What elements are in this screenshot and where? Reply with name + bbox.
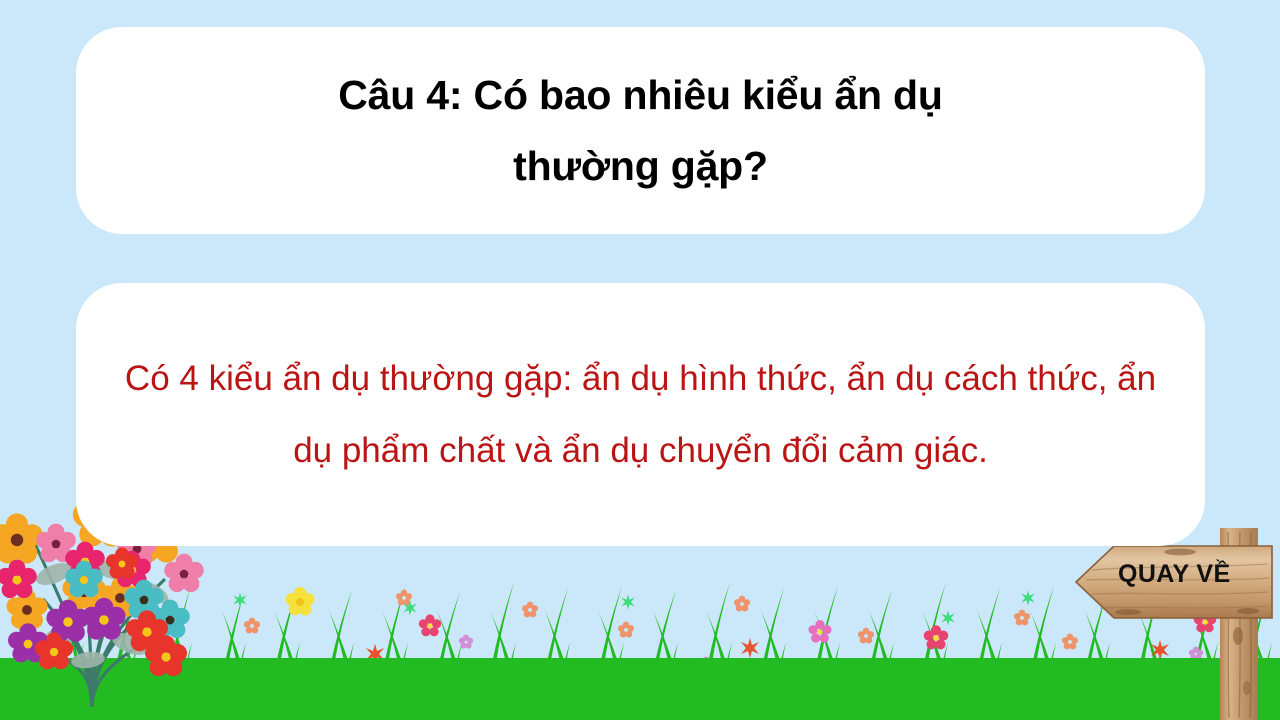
question-card: Câu 4: Có bao nhiêu kiểu ẩn dụ thường gặ…: [76, 27, 1205, 234]
answer-card: Có 4 kiểu ẩn dụ thường gặp: ẩn dụ hình t…: [76, 283, 1205, 546]
slide-canvas: QUAY VỀ Câu 4: Có bao nhiêu kiểu ẩn dụ t…: [0, 0, 1280, 720]
answer-text: Có 4 kiểu ẩn dụ thường gặp: ẩn dụ hình t…: [76, 343, 1205, 487]
wooden-signpost-icon[interactable]: [1062, 516, 1280, 720]
question-text: Câu 4: Có bao nhiêu kiểu ẩn dụ thường gặ…: [298, 60, 983, 201]
